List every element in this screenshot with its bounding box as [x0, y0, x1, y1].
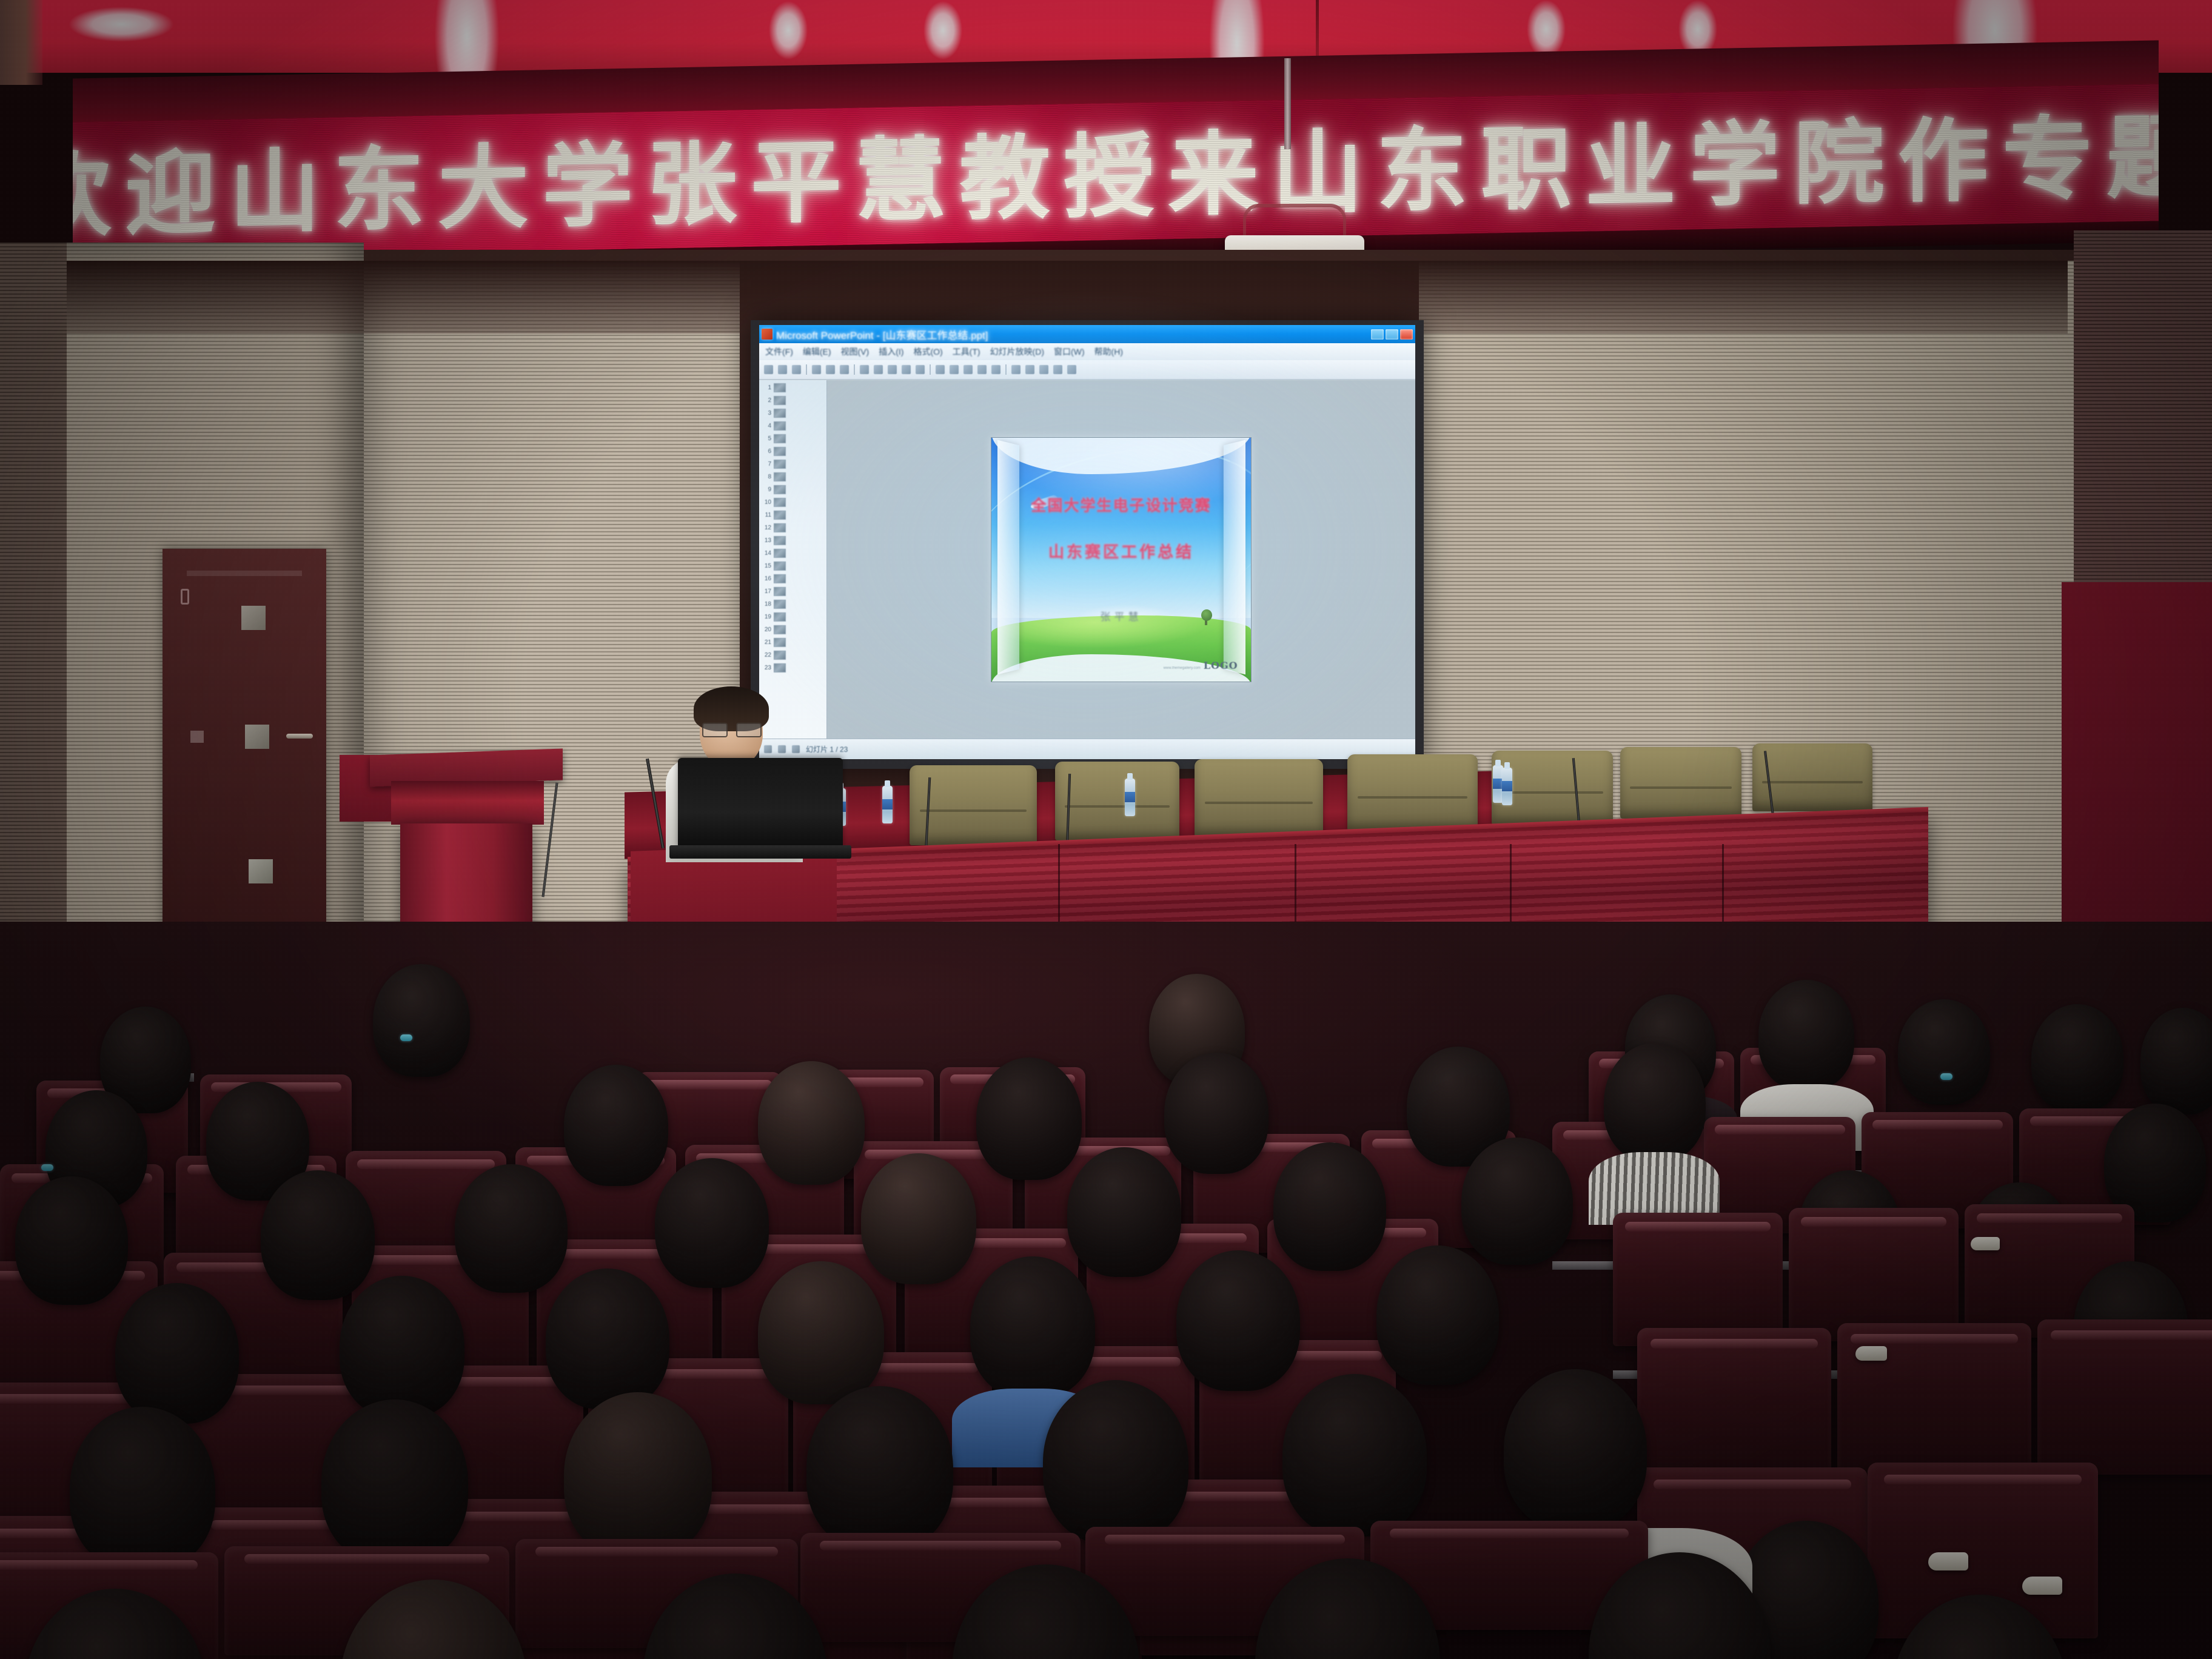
menu-insert[interactable]: 插入(I): [879, 346, 903, 358]
audience-head: [758, 1061, 865, 1185]
audience-head: [546, 1269, 669, 1409]
list-item[interactable]: 21: [760, 636, 826, 649]
slide-thumbnail-icon: [774, 383, 786, 392]
audience-head: [1898, 999, 1990, 1105]
slide-title: 全国大学生电子设计竞赛: [991, 494, 1251, 515]
list-item[interactable]: 12: [760, 521, 826, 534]
slide-thumbnail-icon: [774, 460, 786, 469]
menu-window[interactable]: 窗口(W): [1054, 346, 1085, 358]
door-window-pane: [249, 859, 273, 883]
thumb-number: 20: [762, 626, 771, 633]
thumb-number: 17: [762, 588, 771, 595]
water-bottle: [1125, 779, 1135, 816]
list-item[interactable]: 19: [760, 611, 826, 623]
list-item[interactable]: 2: [760, 394, 826, 407]
spellcheck-icon[interactable]: [840, 365, 849, 374]
seat[interactable]: [1789, 1208, 1959, 1341]
thumb-number: 4: [762, 423, 771, 429]
water-bottle: [882, 786, 893, 823]
slide-thumbnail-icon: [774, 651, 786, 660]
projector-mount-pole: [1284, 58, 1291, 149]
water-bottle: [1502, 768, 1512, 805]
audience-head: [1504, 1369, 1647, 1530]
audience-head: [1176, 1250, 1300, 1391]
menu-format[interactable]: 格式(O): [913, 346, 942, 358]
hair-tie: [400, 1034, 412, 1041]
toolbar-separator: [1005, 364, 1007, 375]
audience-head: [1067, 1147, 1181, 1277]
slide-logo-url: www.themegallery.com: [1164, 666, 1201, 670]
toolbar-separator: [930, 364, 931, 375]
hair-tie: [41, 1164, 53, 1171]
audience-head: [758, 1261, 884, 1404]
auditorium-photo: 热烈欢迎山东大学张平慧教授来山东职业学院作专题报告 Microsoft Powe…: [0, 0, 2212, 1659]
audience-area: [0, 922, 2212, 1659]
paste-icon[interactable]: [888, 365, 897, 374]
slide-logo-text: LOGO: [1204, 660, 1238, 671]
current-slide: 全国大学生电子设计竞赛 山东赛区工作总结 张平慧 www.themegaller…: [991, 437, 1252, 682]
toolbar-separator: [806, 364, 807, 375]
slide-thumbnail-icon: [774, 587, 786, 596]
seat[interactable]: [2037, 1319, 2212, 1475]
slide-thumbnail-icon: [774, 485, 786, 494]
underline-icon[interactable]: [964, 365, 973, 374]
audience-head: [340, 1276, 464, 1418]
slide-thumbnail-icon: [774, 511, 786, 520]
audience-head: [1282, 1374, 1427, 1537]
thumb-number: 21: [762, 639, 771, 646]
laptop-base: [669, 845, 851, 859]
audience-head: [564, 1392, 712, 1558]
door-latch-plate: [190, 731, 204, 743]
slide-thumbnail-icon: [774, 447, 786, 456]
slide-thumbnail-icon: [774, 612, 786, 622]
align-left-icon[interactable]: [977, 365, 987, 374]
bold-icon[interactable]: [936, 365, 945, 374]
audience-head: [2140, 1008, 2212, 1114]
wall-panel-left-edge: [0, 243, 67, 964]
thumb-number: 3: [762, 410, 771, 417]
toolbar-separator: [854, 364, 855, 375]
list-item[interactable]: 11: [760, 509, 826, 521]
menu-file[interactable]: 文件(F): [765, 346, 793, 358]
slide-thumbnail-icon: [774, 421, 786, 431]
slide-logo: www.themegallery.com LOGO: [1164, 660, 1238, 671]
audience-head: [321, 1399, 468, 1564]
slide-subtitle: 山东赛区工作总结: [991, 540, 1251, 562]
door[interactable]: [163, 549, 326, 949]
head-table-chair: [1195, 759, 1323, 837]
list-item[interactable]: 22: [760, 649, 826, 662]
preview-icon[interactable]: [826, 365, 835, 374]
list-item[interactable]: 17: [760, 585, 826, 598]
thumb-number: 5: [762, 435, 771, 442]
slide-thumbnail-icon: [774, 625, 786, 634]
thumb-number: 19: [762, 614, 771, 620]
thumb-number: 12: [762, 525, 771, 531]
thumb-number: 11: [762, 512, 771, 518]
list-item[interactable]: 15: [760, 560, 826, 572]
bullets-icon[interactable]: [1011, 365, 1021, 374]
audience-head: [115, 1283, 239, 1424]
thumb-number: 14: [762, 550, 771, 557]
slide-presenter-name: 张平慧: [991, 608, 1251, 623]
head-table-chair: [1347, 754, 1478, 831]
design-icon[interactable]: [1067, 365, 1076, 374]
audience-head: [1376, 1245, 1499, 1385]
maximize-button[interactable]: [1386, 329, 1398, 340]
menu-edit[interactable]: 编辑(E): [803, 346, 831, 358]
thumb-number: 10: [762, 499, 771, 506]
thumb-number: 16: [762, 575, 771, 582]
thumb-number: 8: [762, 474, 771, 480]
list-item[interactable]: 3: [760, 407, 826, 420]
align-center-icon[interactable]: [991, 365, 1000, 374]
slide-thumbnail-icon: [774, 549, 786, 558]
list-item[interactable]: 1: [760, 381, 826, 394]
menu-help[interactable]: 帮助(H): [1094, 346, 1123, 358]
audience-head: [1273, 1142, 1386, 1271]
undo-icon[interactable]: [902, 365, 911, 374]
shoe: [2022, 1577, 2062, 1595]
list-item[interactable]: 6: [760, 445, 826, 458]
door-window-pane: [241, 606, 266, 630]
audience-head: [655, 1158, 769, 1288]
audience-head: [564, 1065, 668, 1186]
wall-accent-right: [2062, 582, 2212, 970]
shoe: [1971, 1237, 2000, 1250]
slide-thumbnail-icon: [774, 472, 786, 481]
head-table-chair: [1620, 747, 1741, 819]
audience-head: [261, 1170, 375, 1300]
thumb-number: 7: [762, 461, 771, 468]
slide-thumbnail-icon: [774, 561, 786, 571]
led-welcome-banner: 热烈欢迎山东大学张平慧教授来山东职业学院作专题报告: [73, 40, 2159, 272]
list-item[interactable]: 10: [760, 496, 826, 509]
new-icon[interactable]: [764, 365, 773, 374]
powerpoint-menubar: 文件(F) 编辑(E) 视图(V) 插入(I) 格式(O) 工具(T) 幻灯片放…: [759, 343, 1415, 360]
audience-head: [1043, 1380, 1188, 1544]
slide-thumbnail-icon: [774, 498, 786, 507]
audience-head: [15, 1176, 128, 1305]
list-item[interactable]: 8: [760, 471, 826, 483]
menu-slideshow[interactable]: 幻灯片放映(D): [990, 346, 1044, 358]
list-item[interactable]: 13: [760, 534, 826, 547]
audience-head: [1758, 980, 1854, 1090]
thumb-number: 9: [762, 486, 771, 493]
thumb-number: 13: [762, 537, 771, 544]
projection-screen: Microsoft PowerPoint - [山东赛区工作总结.ppt] 文件…: [759, 325, 1415, 759]
audience-head: [861, 1153, 976, 1284]
slide-thumbnail-icon: [774, 574, 786, 583]
slide-thumbnail-icon: [774, 638, 786, 647]
redo-icon[interactable]: [916, 365, 925, 374]
close-button[interactable]: [1400, 329, 1413, 340]
list-item[interactable]: 5: [760, 432, 826, 445]
glasses-icon: [702, 723, 762, 736]
thumb-number: 22: [762, 652, 771, 659]
powerpoint-workspace: 1 2 3 4 5 6 7 8 9 10 11 12 13 14 15 16 1…: [759, 380, 1415, 739]
cut-icon[interactable]: [860, 365, 869, 374]
audience-head: [970, 1256, 1095, 1398]
thumb-number: 15: [762, 563, 771, 569]
audience-head: [1461, 1138, 1573, 1265]
audience-head: [2031, 1004, 2123, 1112]
list-item[interactable]: 23: [760, 662, 826, 674]
audience-head: [455, 1164, 568, 1293]
head-table-chair: [1055, 762, 1179, 840]
thumb-number: 2: [762, 397, 771, 404]
audience-head: [806, 1386, 953, 1551]
ceiling-left-edge: [0, 0, 42, 85]
new-slide-icon[interactable]: [1053, 365, 1062, 374]
powerpoint-status-bar: 幻灯片 1 / 23: [759, 739, 1415, 759]
save-icon[interactable]: [792, 365, 801, 374]
window-buttons: [1371, 329, 1413, 340]
menu-view[interactable]: 视图(V): [841, 346, 870, 358]
powerpoint-app-icon: [762, 329, 773, 340]
thumb-number: 6: [762, 448, 771, 455]
list-item[interactable]: 20: [760, 623, 826, 636]
audience-head: [1604, 1043, 1706, 1162]
door-top-groove: [187, 571, 302, 576]
door-hinge-icon: [181, 589, 189, 605]
powerpoint-title-text: Microsoft PowerPoint - [山东赛区工作总结.ppt]: [776, 327, 1371, 342]
audience-head: [70, 1407, 215, 1570]
door-handle[interactable]: [286, 734, 313, 739]
powerpoint-toolbar: [759, 360, 1415, 380]
podium-neck: [391, 781, 544, 825]
slide-thumbnail-icon: [774, 536, 786, 545]
slide-thumbnail-icon: [774, 434, 786, 443]
shoe: [1855, 1346, 1887, 1361]
seat[interactable]: [1613, 1213, 1783, 1346]
slide-thumbnail-icon: [774, 523, 786, 532]
list-item[interactable]: 7: [760, 458, 826, 471]
open-icon[interactable]: [778, 365, 787, 374]
audience-head: [373, 964, 470, 1077]
slide-editing-area[interactable]: 全国大学生电子设计竞赛 山东赛区工作总结 张平慧 www.themegaller…: [827, 380, 1415, 739]
slide-thumbnail-icon: [774, 409, 786, 418]
thumb-number: 1: [762, 384, 771, 391]
list-item[interactable]: 14: [760, 547, 826, 560]
slide-thumbnail-icon: [774, 663, 786, 672]
powerpoint-title-bar: Microsoft PowerPoint - [山东赛区工作总结.ppt]: [759, 325, 1415, 343]
menu-tools[interactable]: 工具(T): [953, 346, 980, 358]
slide-thumbnail-icon: [774, 600, 786, 609]
door-window-pane: [245, 725, 269, 749]
shoe: [1928, 1552, 1968, 1570]
copy-icon[interactable]: [874, 365, 883, 374]
thumb-number: 18: [762, 601, 771, 608]
numbering-icon[interactable]: [1025, 365, 1034, 374]
print-icon[interactable]: [812, 365, 821, 374]
laptop: [678, 758, 843, 849]
list-item[interactable]: 9: [760, 483, 826, 496]
thumb-number: 23: [762, 665, 771, 671]
audience-head: [976, 1057, 1082, 1180]
list-item[interactable]: 18: [760, 598, 826, 611]
list-item[interactable]: 16: [760, 572, 826, 585]
hair-tie: [1940, 1073, 1952, 1080]
italic-icon[interactable]: [950, 365, 959, 374]
list-item[interactable]: 4: [760, 420, 826, 432]
audience-head: [1164, 1053, 1269, 1174]
minimize-button[interactable]: [1371, 329, 1384, 340]
slide-thumbnail-icon: [774, 396, 786, 405]
seat[interactable]: [1637, 1328, 1831, 1483]
font-color-icon[interactable]: [1039, 365, 1048, 374]
projector-bracket: [1243, 204, 1346, 240]
